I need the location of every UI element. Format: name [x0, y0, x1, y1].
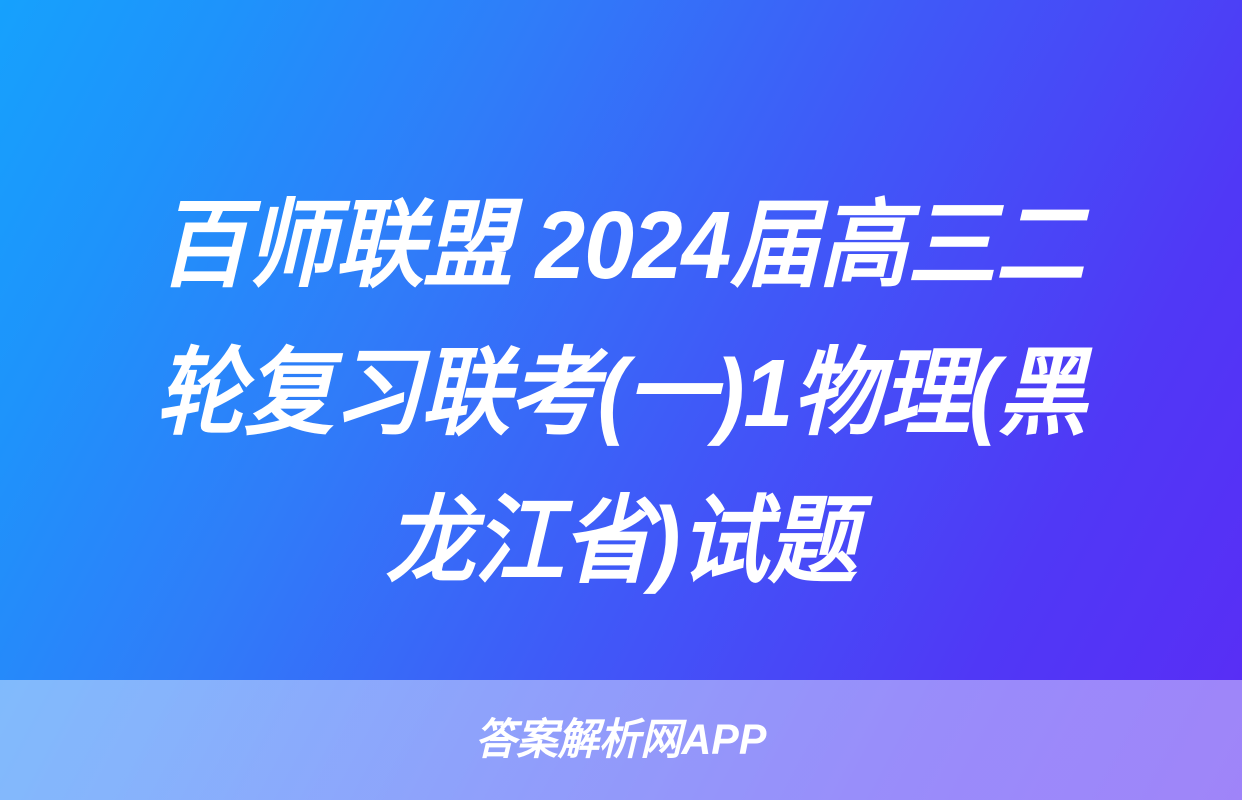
title-line-3: 龙江省)试题: [101, 468, 1141, 616]
title-line-2: 轮复习联考(一)1物理(黑: [101, 320, 1141, 468]
app-brand-label: 答案解析网APP: [475, 719, 766, 762]
page-title: 百师联盟 2024届高三二 轮复习联考(一)1物理(黑 龙江省)试题: [0, 172, 1242, 616]
footer-brand-band: 答案解析网APP: [0, 680, 1242, 800]
share-card: 百师联盟 2024届高三二 轮复习联考(一)1物理(黑 龙江省)试题 答案解析网…: [0, 0, 1242, 800]
title-line-1: 百师联盟 2024届高三二: [101, 172, 1141, 320]
